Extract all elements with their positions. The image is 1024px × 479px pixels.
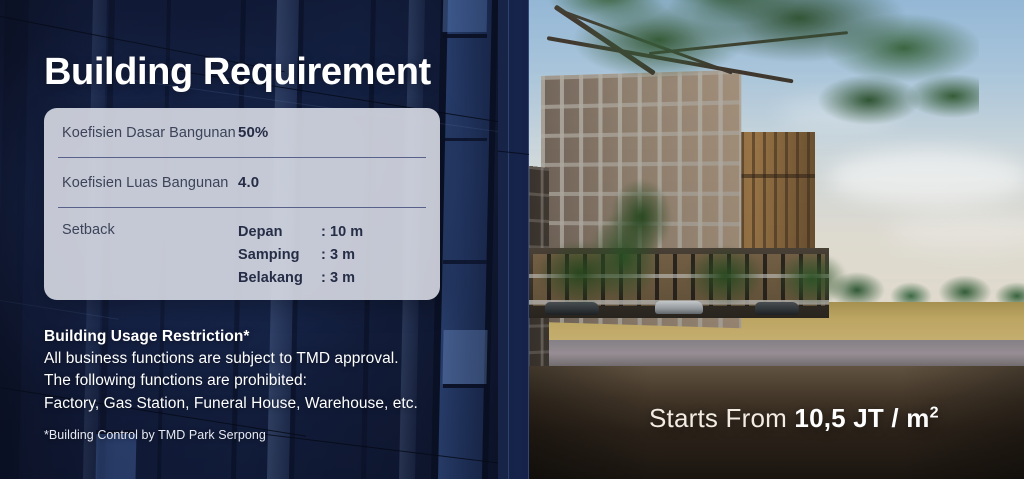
footnote: *Building Control by TMD Park Serpong bbox=[44, 428, 266, 442]
setback-value-belakang: : 3 m bbox=[321, 268, 355, 288]
slide-building-requirement: Building Requirement Koefisien Dasar Ban… bbox=[0, 0, 1024, 479]
price-label: Starts From 10,5 JT / m2 bbox=[649, 403, 939, 434]
setback-name-depan: Depan bbox=[238, 222, 321, 242]
page-title: Building Requirement bbox=[44, 51, 431, 94]
building-usage-restriction: Building Usage Restriction* All business… bbox=[44, 326, 484, 415]
spec-card: Koefisien Dasar Bangunan 50% Koefisien L… bbox=[44, 108, 440, 300]
price-prefix: Starts From bbox=[649, 403, 794, 433]
setback-value-samping: : 3 m bbox=[321, 245, 355, 265]
setback-item-belakang: Belakang : 3 m bbox=[238, 268, 363, 288]
spec-label-setback: Setback bbox=[58, 222, 238, 238]
restriction-line-2: The following functions are prohibited: bbox=[44, 370, 484, 392]
setback-value-depan: : 10 m bbox=[321, 222, 363, 242]
spec-value-kdb: 50% bbox=[238, 124, 268, 141]
spec-row-setback: Setback Depan : 10 m Samping : 3 m Belak… bbox=[58, 208, 426, 300]
spec-label-kdb: Koefisien Dasar Bangunan bbox=[58, 125, 238, 141]
restriction-line-1: All business functions are subject to TM… bbox=[44, 348, 484, 370]
spec-row-kdb: Koefisien Dasar Bangunan 50% bbox=[58, 108, 426, 158]
setback-value-list: Depan : 10 m Samping : 3 m Belakang : 3 … bbox=[238, 222, 363, 288]
restriction-line-3: Factory, Gas Station, Funeral House, War… bbox=[44, 393, 484, 415]
setback-item-samping: Samping : 3 m bbox=[238, 245, 363, 265]
building-render-photo: Starts From 10,5 JT / m2 bbox=[529, 0, 1024, 479]
left-info-panel: Building Requirement Koefisien Dasar Ban… bbox=[0, 0, 530, 479]
spec-value-klb: 4.0 bbox=[238, 174, 259, 191]
setback-name-samping: Samping bbox=[238, 245, 321, 265]
spec-row-klb: Koefisien Luas Bangunan 4.0 bbox=[58, 158, 426, 208]
panel-divider bbox=[498, 0, 532, 479]
setback-item-depan: Depan : 10 m bbox=[238, 222, 363, 242]
price-unit-superscript: 2 bbox=[930, 403, 939, 421]
setback-name-belakang: Belakang bbox=[238, 268, 321, 288]
price-amount: 10,5 JT / m bbox=[794, 403, 929, 433]
restriction-heading: Building Usage Restriction* bbox=[44, 326, 484, 348]
spec-label-klb: Koefisien Luas Bangunan bbox=[58, 175, 238, 191]
